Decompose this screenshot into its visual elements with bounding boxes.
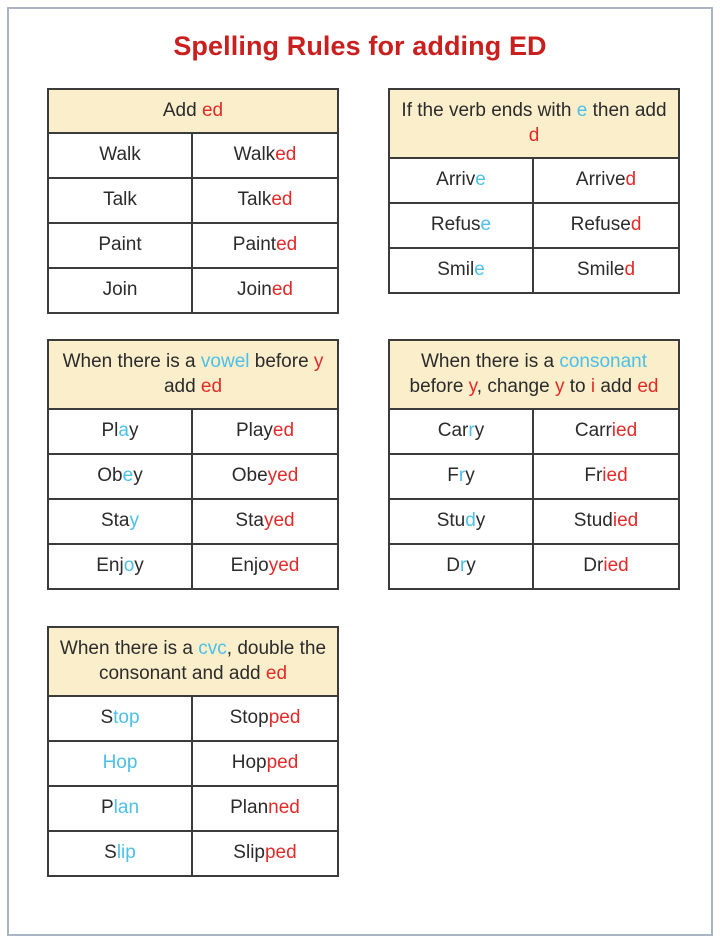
text-fragment: consonant [559, 351, 647, 372]
base-word-cell: Stay [49, 500, 193, 543]
text-fragment: If the verb ends with [401, 100, 576, 121]
text-fragment: F [447, 465, 459, 486]
base-word-cell: Obey [49, 455, 193, 498]
text-fragment: Add [163, 100, 202, 121]
rule-table-add-ed: Add ed WalkWalkedTalkTalkedPaintPaintedJ… [47, 88, 339, 314]
text-fragment: Join [103, 279, 138, 300]
text-fragment: When there is a [63, 351, 201, 372]
rule-header-ends-with-e: If the verb ends with e then add d [390, 90, 678, 159]
past-tense-cell: Stopped [193, 697, 337, 740]
table-row: TalkTalked [49, 179, 337, 224]
base-word-cell: Slip [49, 832, 193, 875]
text-fragment: y [555, 376, 565, 397]
text-fragment: Walk [234, 144, 276, 165]
text-fragment: When there is a [60, 638, 198, 659]
text-fragment: Enjo [231, 555, 269, 576]
past-tense-cell: Studied [534, 500, 678, 543]
text-fragment: e [123, 465, 134, 486]
text-fragment: ed [275, 144, 296, 165]
text-fragment: ed [272, 279, 293, 300]
text-fragment: Hop [232, 752, 267, 773]
table-row: PlayPlayed [49, 410, 337, 455]
text-fragment: ied [612, 420, 637, 441]
text-fragment: y [133, 465, 143, 486]
text-fragment: Sta [235, 510, 264, 531]
text-fragment: d [624, 259, 635, 280]
past-tense-cell: Stayed [193, 500, 337, 543]
text-fragment: Dr [583, 555, 603, 576]
table-row: SmileSmiled [390, 249, 678, 292]
base-word-cell: Stop [49, 697, 193, 740]
page-content: Spelling Rules for adding ED Add ed Walk… [7, 7, 713, 936]
past-tense-cell: Planned [193, 787, 337, 830]
text-fragment: add [164, 376, 201, 397]
text-fragment: Car [438, 420, 469, 441]
text-fragment: y [475, 420, 485, 441]
text-fragment: d [626, 169, 637, 190]
text-fragment: Stop [230, 707, 269, 728]
table-row: PlanPlanned [49, 787, 337, 832]
text-fragment: vowel [201, 351, 250, 372]
text-fragment: ed [202, 100, 223, 121]
rule-rows-ends-with-e: ArriveArrivedRefuseRefusedSmileSmiled [390, 159, 678, 292]
text-fragment: Join [237, 279, 272, 300]
text-fragment: lip [117, 842, 136, 863]
text-fragment: Stud [574, 510, 613, 531]
text-fragment: ped [267, 752, 299, 773]
base-word-cell: Plan [49, 787, 193, 830]
past-tense-cell: Enjoyed [193, 545, 337, 588]
table-row: WalkWalked [49, 134, 337, 179]
rule-table-cvc-double: When there is a cvc, double the consonan… [47, 626, 339, 877]
text-fragment: d [529, 125, 540, 146]
text-fragment: Smil [437, 259, 474, 280]
rule-table-consonant-before-y: When there is a consonant before y, chan… [388, 339, 680, 590]
rule-header-consonant-before-y: When there is a consonant before y, chan… [390, 341, 678, 410]
base-word-cell: Fry [390, 455, 534, 498]
rule-header-cvc-double: When there is a cvc, double the consonan… [49, 628, 337, 697]
past-tense-cell: Talked [193, 179, 337, 222]
table-row: StayStayed [49, 500, 337, 545]
text-fragment: Pl [102, 420, 119, 441]
table-row: HopHopped [49, 742, 337, 787]
text-fragment: Plan [230, 797, 268, 818]
base-word-cell: Arrive [390, 159, 534, 202]
text-fragment: yed [269, 555, 300, 576]
table-row: EnjoyEnjoyed [49, 545, 337, 588]
text-fragment: Talk [238, 189, 272, 210]
text-fragment: Walk [99, 144, 141, 165]
text-fragment: ped [265, 842, 297, 863]
text-fragment: add [595, 376, 637, 397]
text-fragment: y [469, 376, 477, 397]
text-fragment: yed [264, 510, 295, 531]
text-fragment: ed [266, 663, 287, 684]
table-row: FryFried [390, 455, 678, 500]
text-fragment: before [249, 351, 313, 372]
base-word-cell: Join [49, 269, 193, 312]
base-word-cell: Study [390, 500, 534, 543]
text-fragment: e [577, 100, 588, 121]
page-title: Spelling Rules for adding ED [7, 31, 713, 62]
text-fragment: y [129, 420, 139, 441]
text-fragment: ied [613, 510, 638, 531]
text-fragment: Fr [584, 465, 602, 486]
text-fragment: ied [602, 465, 627, 486]
text-fragment: Paint [98, 234, 141, 255]
text-fragment: top [113, 707, 139, 728]
text-fragment: y [465, 465, 475, 486]
rule-rows-add-ed: WalkWalkedTalkTalkedPaintPaintedJoinJoin… [49, 134, 337, 312]
base-word-cell: Hop [49, 742, 193, 785]
text-fragment: Refuse [571, 214, 631, 235]
text-fragment: ped [269, 707, 301, 728]
past-tense-cell: Smiled [534, 249, 678, 292]
text-fragment: y [130, 510, 140, 531]
text-fragment: Talk [103, 189, 137, 210]
text-fragment: cvc [198, 638, 227, 659]
text-fragment: Arrive [576, 169, 626, 190]
base-word-cell: Carry [390, 410, 534, 453]
past-tense-cell: Fried [534, 455, 678, 498]
table-row: StopStopped [49, 697, 337, 742]
rule-rows-vowel-before-y: PlayPlayedObeyObeyedStayStayedEnjoyEnjoy… [49, 410, 337, 588]
base-word-cell: Walk [49, 134, 193, 177]
text-fragment: d [631, 214, 642, 235]
past-tense-cell: Carried [534, 410, 678, 453]
text-fragment: y [476, 510, 486, 531]
base-word-cell: Smile [390, 249, 534, 292]
past-tense-cell: Dried [534, 545, 678, 588]
table-row: JoinJoined [49, 269, 337, 312]
text-fragment: o [124, 555, 135, 576]
past-tense-cell: Hopped [193, 742, 337, 785]
past-tense-cell: Arrived [534, 159, 678, 202]
past-tense-cell: Joined [193, 269, 337, 312]
text-fragment: y [314, 351, 324, 372]
text-fragment: P [101, 797, 114, 818]
rule-table-ends-with-e: If the verb ends with e then add d Arriv… [388, 88, 680, 294]
text-fragment: Ob [97, 465, 122, 486]
text-fragment: e [475, 169, 486, 190]
text-fragment: Obe [232, 465, 268, 486]
text-fragment: before [410, 376, 469, 397]
text-fragment: y [466, 555, 476, 576]
past-tense-cell: Played [193, 410, 337, 453]
text-fragment: Arriv [436, 169, 475, 190]
text-fragment: ed [637, 376, 658, 397]
text-fragment: e [481, 214, 492, 235]
text-fragment: to [564, 376, 590, 397]
text-fragment: yed [268, 465, 299, 486]
base-word-cell: Refuse [390, 204, 534, 247]
text-fragment: Enj [96, 555, 123, 576]
text-fragment: Slip [233, 842, 265, 863]
table-row: StudyStudied [390, 500, 678, 545]
table-row: CarryCarried [390, 410, 678, 455]
text-fragment: Hop [103, 752, 138, 773]
text-fragment: then add [587, 100, 666, 121]
text-fragment: Smile [577, 259, 625, 280]
text-fragment: ed [276, 234, 297, 255]
text-fragment: ed [201, 376, 222, 397]
text-fragment: e [474, 259, 485, 280]
base-word-cell: Talk [49, 179, 193, 222]
text-fragment: lan [114, 797, 139, 818]
text-fragment: Play [236, 420, 273, 441]
text-fragment: Sta [101, 510, 130, 531]
text-fragment: ed [271, 189, 292, 210]
text-fragment: a [118, 420, 129, 441]
text-fragment: S [104, 842, 117, 863]
past-tense-cell: Slipped [193, 832, 337, 875]
table-row: SlipSlipped [49, 832, 337, 875]
text-fragment: d [465, 510, 476, 531]
past-tense-cell: Obeyed [193, 455, 337, 498]
rule-header-add-ed: Add ed [49, 90, 337, 134]
worksheet-page: Spelling Rules for adding ED Add ed Walk… [0, 0, 720, 943]
past-tense-cell: Walked [193, 134, 337, 177]
text-fragment: ied [603, 555, 628, 576]
base-word-cell: Enjoy [49, 545, 193, 588]
table-row: PaintPainted [49, 224, 337, 269]
table-row: RefuseRefused [390, 204, 678, 249]
text-fragment: ed [273, 420, 294, 441]
text-fragment: S [100, 707, 113, 728]
table-row: DryDried [390, 545, 678, 588]
text-fragment: , change [477, 376, 555, 397]
rule-header-vowel-before-y: When there is a vowel before y add ed [49, 341, 337, 410]
table-row: ArriveArrived [390, 159, 678, 204]
text-fragment: Paint [233, 234, 276, 255]
text-fragment: Stu [437, 510, 466, 531]
rule-rows-cvc-double: StopStoppedHopHoppedPlanPlannedSlipSlipp… [49, 697, 337, 875]
rule-table-vowel-before-y: When there is a vowel before y add ed Pl… [47, 339, 339, 590]
text-fragment: y [134, 555, 144, 576]
text-fragment: When there is a [421, 351, 559, 372]
past-tense-cell: Painted [193, 224, 337, 267]
text-fragment: Carr [575, 420, 612, 441]
text-fragment: Refus [431, 214, 481, 235]
text-fragment: D [446, 555, 460, 576]
base-word-cell: Dry [390, 545, 534, 588]
rule-rows-consonant-before-y: CarryCarriedFryFriedStudyStudiedDryDried [390, 410, 678, 588]
base-word-cell: Paint [49, 224, 193, 267]
past-tense-cell: Refused [534, 204, 678, 247]
text-fragment: ned [268, 797, 300, 818]
table-row: ObeyObeyed [49, 455, 337, 500]
base-word-cell: Play [49, 410, 193, 453]
